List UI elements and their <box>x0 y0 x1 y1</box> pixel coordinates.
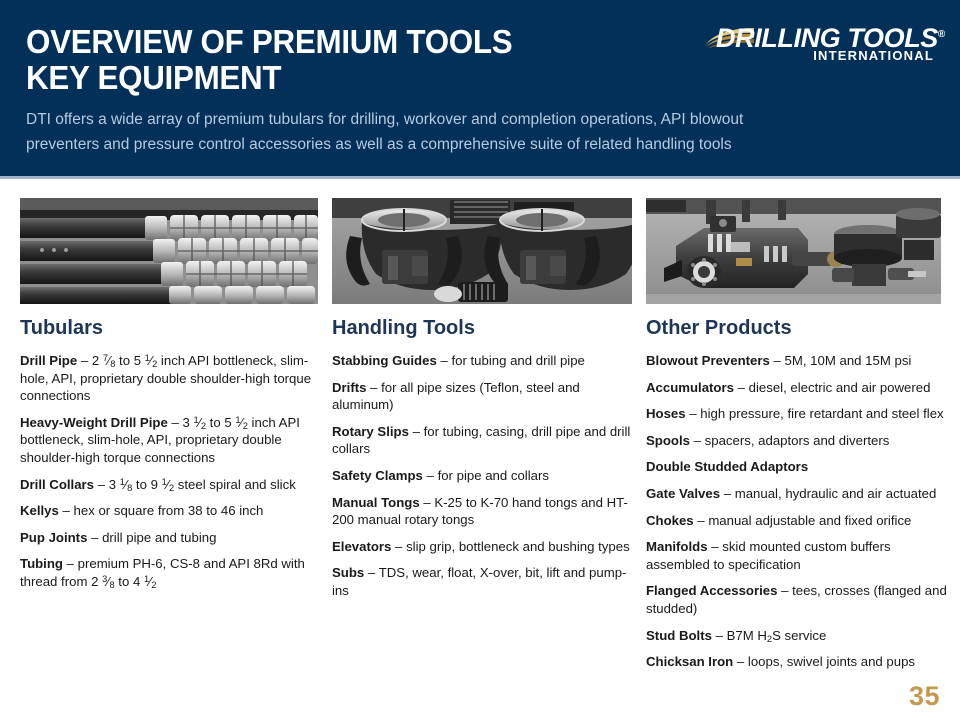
slide: OVERVIEW OF PREMIUM TOOLS KEY EQUIPMENT … <box>0 0 960 720</box>
product-entry-term: Tubing <box>20 556 63 571</box>
product-entry-term: Drill Collars <box>20 477 94 492</box>
photo-drill-pipe-stack-graphic <box>20 198 318 304</box>
product-entry: Drill Collars – 3 1⁄8 to 9 1⁄2 steel spi… <box>20 476 320 494</box>
product-entry-term: Manifolds <box>646 539 708 554</box>
product-entry: Double Studded Adaptors <box>646 458 948 476</box>
page-subtitle-line-2: preventers and pressure control accessor… <box>26 133 856 158</box>
column-handling-tools: Handling Tools Stabbing Guides – for tub… <box>332 316 632 609</box>
product-entry-term: Blowout Preventers <box>646 353 770 368</box>
entry-list-tubulars: Drill Pipe – 2 7⁄8 to 5 1⁄2 inch API bot… <box>20 352 320 591</box>
page-title-line-1: OVERVIEW OF PREMIUM TOOLS <box>26 24 634 60</box>
column-heading-other-products: Other Products <box>646 316 948 340</box>
product-entry-term: Flanged Accessories <box>646 583 777 598</box>
product-entry: Rotary Slips – for tubing, casing, drill… <box>332 423 632 458</box>
page-number: 35 <box>909 681 940 712</box>
page-title: OVERVIEW OF PREMIUM TOOLS KEY EQUIPMENT <box>26 24 634 96</box>
product-entry: Chokes – manual adjustable and fixed ori… <box>646 512 948 530</box>
product-entry-term: Chicksan Iron <box>646 654 733 669</box>
product-entry-term: Gate Valves <box>646 486 720 501</box>
fraction-denominator: 2 <box>169 483 174 493</box>
product-entry: Stabbing Guides – for tubing and drill p… <box>332 352 632 370</box>
product-entry: Manual Tongs – K-25 to K-70 hand tongs a… <box>332 494 632 529</box>
column-other-products: Other Products Blowout Preventers – 5M, … <box>646 316 948 680</box>
product-entry-term: Rotary Slips <box>332 424 409 439</box>
product-entry-term: Spools <box>646 433 690 448</box>
product-entry-term: Heavy-Weight Drill Pipe <box>20 415 168 430</box>
fraction-denominator: 2 <box>151 580 156 590</box>
product-entry: Tubing – premium PH-6, CS-8 and API 8Rd … <box>20 555 320 590</box>
photo-strip <box>0 198 960 304</box>
product-entry-term: Drifts <box>332 380 366 395</box>
product-entry-term: Accumulators <box>646 380 734 395</box>
photo-rotary-slips-graphic <box>332 198 632 304</box>
product-entry-term: Manual Tongs <box>332 495 420 510</box>
fraction-denominator: 8 <box>109 580 114 590</box>
product-entry: Gate Valves – manual, hydraulic and air … <box>646 485 948 503</box>
product-entry: Spools – spacers, adaptors and diverters <box>646 432 948 450</box>
product-entry-term: Subs <box>332 565 364 580</box>
column-heading-handling-tools: Handling Tools <box>332 316 632 340</box>
product-entry-term: Double Studded Adaptors <box>646 459 808 474</box>
company-logo: DRILLING TOOLS® INTERNATIONAL <box>702 20 942 68</box>
photo-drill-pipe-stack <box>20 198 318 304</box>
product-entry: Flanged Accessories – tees, crosses (fla… <box>646 582 948 617</box>
product-entry: Drifts – for all pipe sizes (Teflon, ste… <box>332 379 632 414</box>
logo-tagline: INTERNATIONAL <box>702 48 934 63</box>
product-entry: Elevators – slip grip, bottleneck and bu… <box>332 538 632 556</box>
page-title-line-2: KEY EQUIPMENT <box>26 60 634 96</box>
logo-registered-icon: ® <box>938 29 945 40</box>
product-entry-term: Drill Pipe <box>20 353 77 368</box>
product-entry-term: Kellys <box>20 503 59 518</box>
content-columns: Tubulars Drill Pipe – 2 7⁄8 to 5 1⁄2 inc… <box>0 316 960 696</box>
product-entry-term: Hoses <box>646 406 686 421</box>
column-heading-tubulars: Tubulars <box>20 316 320 340</box>
product-entry: Hoses – high pressure, fire retardant an… <box>646 405 948 423</box>
photo-blowout-preventers-graphic <box>646 198 941 304</box>
product-entry-term: Stabbing Guides <box>332 353 437 368</box>
product-entry: Kellys – hex or square from 38 to 46 inc… <box>20 502 320 520</box>
product-entry: Subs – TDS, wear, float, X-over, bit, li… <box>332 564 632 599</box>
product-entry: Manifolds – skid mounted custom buffers … <box>646 538 948 573</box>
product-entry: Accumulators – diesel, electric and air … <box>646 379 948 397</box>
product-entry: Heavy-Weight Drill Pipe – 3 1⁄2 to 5 1⁄2… <box>20 414 320 467</box>
product-entry-term: Safety Clamps <box>332 468 423 483</box>
header-divider-rule <box>0 176 960 179</box>
fraction-denominator: 8 <box>127 483 132 493</box>
product-entry-term: Stud Bolts <box>646 628 712 643</box>
fraction-denominator: 2 <box>201 421 206 431</box>
entry-list-handling-tools: Stabbing Guides – for tubing and drill p… <box>332 352 632 600</box>
column-tubulars: Tubulars Drill Pipe – 2 7⁄8 to 5 1⁄2 inc… <box>20 316 320 600</box>
product-entry: Chicksan Iron – loops, swivel joints and… <box>646 653 948 671</box>
product-entry-term: Elevators <box>332 539 391 554</box>
product-entry-term: Chokes <box>646 513 694 528</box>
chemical-subscript: 2 <box>767 634 772 644</box>
photo-rotary-slips <box>332 198 632 304</box>
fraction-denominator: 8 <box>110 359 115 369</box>
fraction-denominator: 2 <box>243 421 248 431</box>
photo-blowout-preventers <box>646 198 941 304</box>
product-entry-term: Pup Joints <box>20 530 87 545</box>
product-entry: Blowout Preventers – 5M, 10M and 15M psi <box>646 352 948 370</box>
product-entry: Safety Clamps – for pipe and collars <box>332 467 632 485</box>
product-entry: Drill Pipe – 2 7⁄8 to 5 1⁄2 inch API bot… <box>20 352 320 405</box>
page-subtitle: DTI offers a wide array of premium tubul… <box>26 108 856 157</box>
entry-list-other-products: Blowout Preventers – 5M, 10M and 15M psi… <box>646 352 948 671</box>
fraction-denominator: 2 <box>152 359 157 369</box>
page-subtitle-line-1: DTI offers a wide array of premium tubul… <box>26 108 856 133</box>
product-entry: Stud Bolts – B7M H2S service <box>646 627 948 645</box>
product-entry: Pup Joints – drill pipe and tubing <box>20 529 320 547</box>
